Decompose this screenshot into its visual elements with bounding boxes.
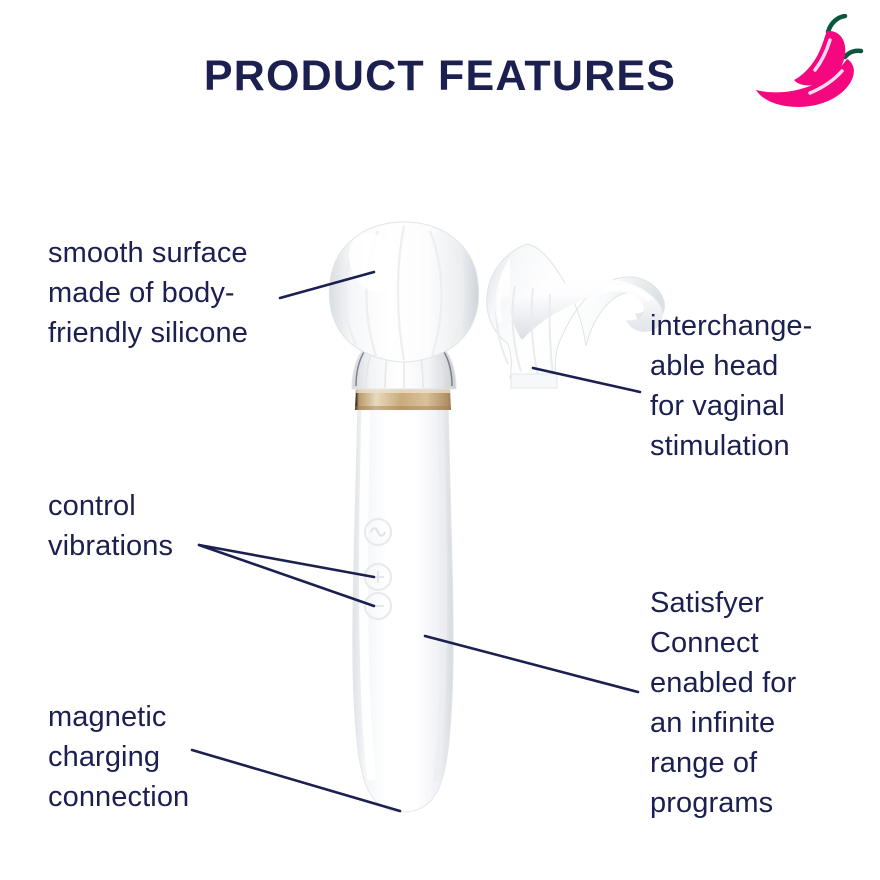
- attachment-connector: [511, 374, 557, 388]
- callout-smooth-surface: smooth surface made of body- friendly si…: [48, 233, 308, 353]
- gold-ring-highlight: [356, 389, 450, 393]
- attachment-head: [487, 244, 665, 388]
- callout-control-vibrations: control vibrations: [48, 486, 278, 566]
- wand-vibrator: [329, 222, 478, 812]
- wand-head: [329, 222, 478, 362]
- infographic-canvas: PRODUCT FEATURES: [0, 0, 880, 880]
- gold-ring-shadow: [355, 406, 451, 410]
- callout-magnetic-charging: magnetic charging connection: [48, 697, 278, 817]
- callout-satisfyer-connect: Satisfyer Connect enabled for an infinit…: [650, 583, 865, 823]
- callout-interchangeable-head: interchange- able head for vaginal stimu…: [650, 306, 865, 466]
